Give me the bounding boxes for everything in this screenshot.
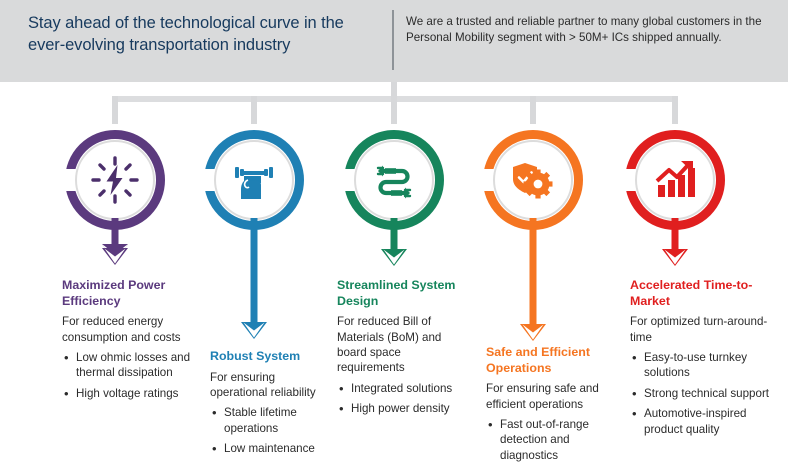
- text-block-3: Streamlined System Design For reduced Bi…: [337, 278, 459, 422]
- ring-gap-right: [471, 169, 485, 191]
- text-block-4: Safe and Efficient Operations For ensuri…: [486, 345, 614, 468]
- column-bullets: Fast out-of-range detection and diagnost…: [486, 417, 614, 463]
- column-title: Accelerated Time-to-Market: [630, 278, 778, 309]
- list-item: Fast out-of-range detection and diagnost…: [486, 417, 614, 463]
- arrow-down-orange: [516, 218, 550, 342]
- header-right: We are a trusted and reliable partner to…: [394, 0, 788, 47]
- ring-gap-right: [613, 169, 627, 191]
- list-item: Low maintenance: [210, 441, 332, 456]
- column-title: Safe and Efficient Operations: [486, 345, 614, 376]
- list-item: High voltage ratings: [62, 386, 192, 401]
- column-description: For reduced Bill of Materials (BoM) and …: [337, 314, 459, 376]
- list-item: High power density: [337, 401, 459, 416]
- header-banner: Stay ahead of the technological curve in…: [0, 0, 788, 82]
- arrow-down-purple: [98, 218, 132, 266]
- tree-drop-5: [672, 96, 678, 124]
- list-item: Easy-to-use turnkey solutions: [630, 350, 778, 381]
- column-title: Streamlined System Design: [337, 278, 459, 309]
- column-bullets: Low ohmic losses and thermal dissipation…: [62, 350, 192, 401]
- ring-gap-right: [53, 169, 67, 191]
- column-bullets: Integrated solutions High power density: [337, 381, 459, 417]
- column-description: For ensuring safe and efficient operatio…: [486, 381, 614, 412]
- ring-gap-right: [192, 169, 206, 191]
- fist-dumbbell-icon: [214, 140, 294, 220]
- arrow-down-green: [377, 218, 411, 268]
- column-description: For reduced energy consumption and costs: [62, 314, 192, 345]
- tree-drop-1: [112, 96, 118, 124]
- header-subtitle: We are a trusted and reliable partner to…: [406, 14, 774, 47]
- list-item: Stable lifetime operations: [210, 405, 332, 436]
- column-bullets: Stable lifetime operations Low maintenan…: [210, 405, 332, 456]
- list-item: Low ohmic losses and thermal dissipation: [62, 350, 192, 381]
- text-block-5: Accelerated Time-to-Market For optimized…: [630, 278, 778, 442]
- serpentine-workflow-icon: [354, 140, 434, 220]
- shield-check-gear-icon: [493, 140, 573, 220]
- tree-drop-4: [530, 96, 536, 124]
- column-bullets: Easy-to-use turnkey solutions Strong tec…: [630, 350, 778, 437]
- column-title: Maximized Power Efficiency: [62, 278, 192, 309]
- list-item: Strong technical support: [630, 386, 778, 401]
- column-description: For ensuring operational reliability: [210, 370, 332, 401]
- text-block-1: Maximized Power Efficiency For reduced e…: [62, 278, 192, 406]
- arrow-down-blue: [237, 218, 271, 340]
- growth-chart-arrow-icon: [635, 140, 715, 220]
- list-item: Automotive-inspired product quality: [630, 406, 778, 437]
- ring-gap-right: [332, 169, 346, 191]
- infographic-page: Stay ahead of the technological curve in…: [0, 0, 788, 470]
- tree-drop-3: [391, 96, 397, 124]
- column-title: Robust System: [210, 349, 332, 365]
- column-description: For optimized turn-around-time: [630, 314, 778, 345]
- tree-drop-2: [251, 96, 257, 124]
- arrow-down-red: [658, 218, 692, 268]
- header-left: Stay ahead of the technological curve in…: [0, 0, 392, 57]
- text-block-2: Robust System For ensuring operational r…: [210, 349, 332, 462]
- lightning-bolt-icon: [75, 140, 155, 220]
- page-title: Stay ahead of the technological curve in…: [28, 13, 374, 57]
- list-item: Integrated solutions: [337, 381, 459, 396]
